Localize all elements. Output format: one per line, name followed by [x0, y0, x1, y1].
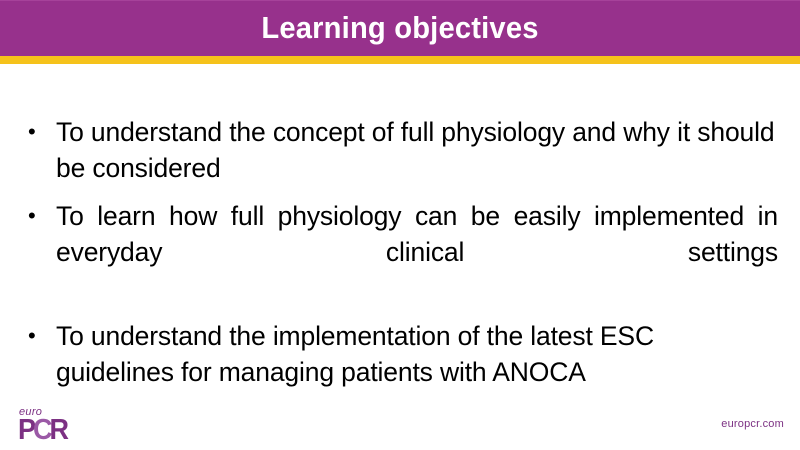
- logo-letter-p: P: [18, 414, 34, 446]
- bullet-icon: •: [28, 318, 46, 354]
- list-item: • To understand the concept of full phys…: [22, 114, 778, 186]
- list-item-text: To understand the concept of full physio…: [56, 114, 778, 186]
- bullet-icon: •: [28, 198, 46, 234]
- list-item-text: To learn how full physiology can be easi…: [56, 198, 778, 306]
- site-url-label: europcr.com: [721, 418, 784, 430]
- objectives-list: • To understand the concept of full phys…: [22, 114, 778, 390]
- list-item: • To understand the implementation of th…: [22, 318, 778, 390]
- list-item: • To learn how full physiology can be ea…: [22, 198, 778, 306]
- logo-pcr-text: PCR: [18, 415, 67, 445]
- logo-letter-r: R: [50, 414, 68, 446]
- list-item-text: To understand the implementation of the …: [56, 318, 778, 390]
- bullet-icon: •: [28, 114, 46, 150]
- logo-letter-c: C: [33, 414, 51, 446]
- europcr-logo: euro PCR: [18, 406, 80, 442]
- slide: Learning objectives • To understand the …: [0, 0, 800, 450]
- slide-body: • To understand the concept of full phys…: [0, 64, 800, 384]
- header-accent-rule: [0, 56, 800, 64]
- page-title: Learning objectives: [24, 0, 776, 56]
